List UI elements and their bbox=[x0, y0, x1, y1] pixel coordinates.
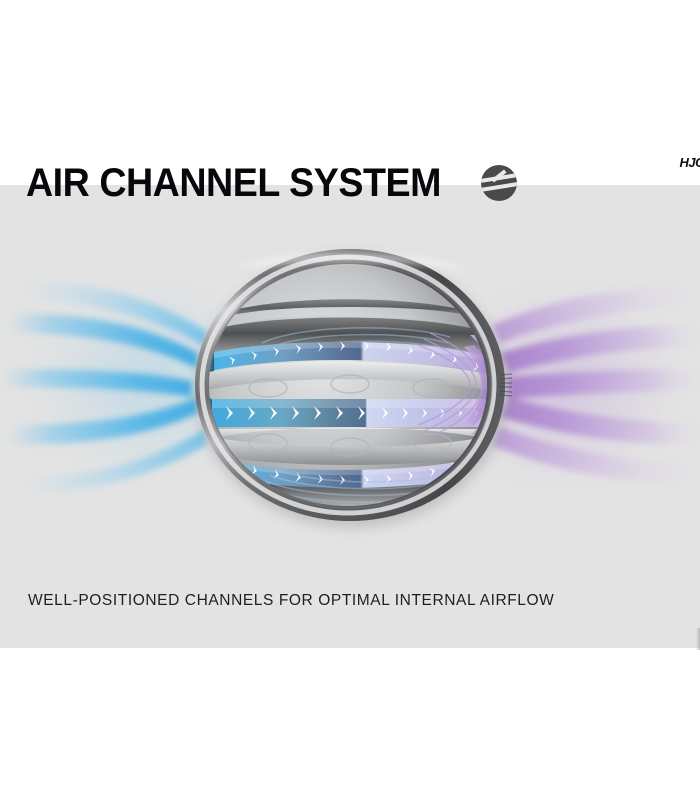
helmet-air-channel-diagram bbox=[0, 185, 700, 585]
page-title: AIR CHANNEL SYSTEM bbox=[26, 163, 441, 203]
panel-edge-mark bbox=[696, 628, 700, 650]
caption-text: WELL-POSITIONED CHANNELS FOR OPTIMAL INT… bbox=[28, 592, 554, 610]
slide-canvas: AIR CHANNEL SYSTEM HJC WELL-POSITIONED C… bbox=[0, 0, 700, 800]
hjc-corner-wordmark: HJC bbox=[679, 155, 700, 170]
helmet-internal-structure bbox=[180, 299, 520, 517]
hjc-swoosh-logo-icon bbox=[481, 165, 517, 201]
headline-group: AIR CHANNEL SYSTEM bbox=[26, 163, 517, 203]
logo-bar-lower bbox=[481, 181, 517, 192]
